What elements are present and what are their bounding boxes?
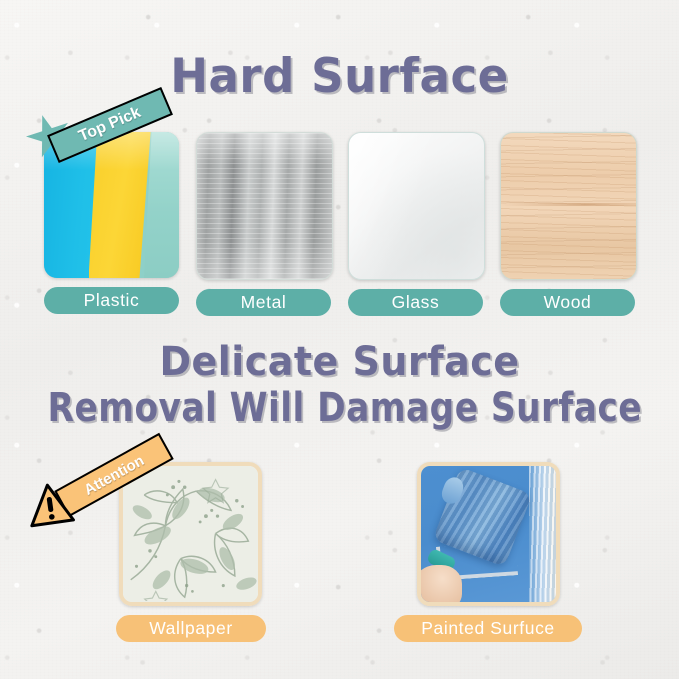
warning-triangle-icon	[23, 479, 77, 529]
top-pick-badge: Top Pick	[26, 96, 176, 156]
attention-badge: Attention	[24, 450, 174, 528]
glass-swatch	[348, 132, 485, 280]
page-subtitle-removal-warning: Removal Will Damage Surface	[48, 385, 632, 431]
material-card-glass[interactable]: Glass	[348, 132, 483, 316]
paint-wet-edge	[529, 466, 556, 602]
surface-label-painted: Painted Surfuce	[394, 615, 582, 642]
surface-card-painted[interactable]: Painted Surfuce	[417, 462, 560, 642]
wood-swatch	[500, 132, 637, 280]
material-label-plastic: Plastic	[44, 287, 179, 314]
material-card-wood[interactable]: Wood	[500, 132, 635, 316]
metal-shine-highlight	[197, 133, 332, 279]
glass-shine-highlight	[349, 133, 484, 279]
hard-surface-item-row: Plastic Metal Glass Wood	[0, 132, 679, 316]
material-label-wood: Wood	[500, 289, 635, 316]
material-label-metal: Metal	[196, 289, 331, 316]
painted-surface-photo	[417, 462, 560, 606]
attention-label: Attention	[81, 452, 147, 499]
wood-grain-line	[501, 203, 636, 206]
page-title-delicate-surface: Delicate Surface	[17, 339, 662, 385]
top-pick-label: Top Pick	[76, 104, 143, 146]
metal-swatch	[196, 132, 333, 280]
material-card-metal[interactable]: Metal	[196, 132, 331, 316]
surface-label-wallpaper: Wallpaper	[116, 615, 266, 642]
hand-holding-roller	[417, 565, 462, 606]
material-label-glass: Glass	[348, 289, 483, 316]
infographic-canvas: Hard Surface Plastic Metal Glass	[0, 0, 679, 679]
